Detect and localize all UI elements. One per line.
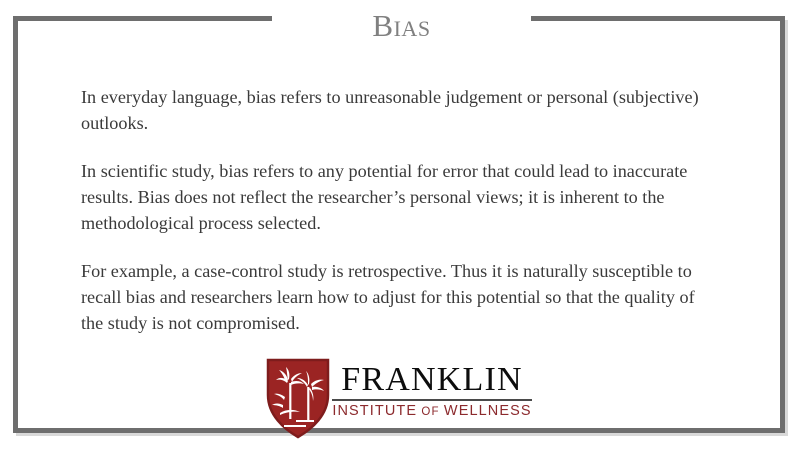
logo-franklin-text: FRANKLIN <box>330 363 534 397</box>
slide-body: In everyday language, bias refers to unr… <box>81 84 721 336</box>
slide-canvas: Bias In everyday language, bias refers t… <box>0 0 800 450</box>
logo-wordmark: FRANKLIN INSTITUTE OF WELLNESS <box>330 363 534 420</box>
frame-border-top-right <box>531 16 785 21</box>
franklin-institute-logo: FRANKLIN INSTITUTE OF WELLNESS <box>266 355 534 445</box>
frame-border-top-left <box>13 16 272 21</box>
logo-tagline-institute: INSTITUTE <box>332 403 417 419</box>
logo-divider-rule <box>332 399 532 401</box>
logo-tagline: INSTITUTE OF WELLNESS <box>330 403 534 420</box>
frame-border-left <box>13 16 18 433</box>
logo-tagline-wellness: WELLNESS <box>444 403 532 419</box>
slide-title: Bias <box>272 8 531 44</box>
body-paragraph-3: For example, a case-control study is ret… <box>81 258 721 336</box>
body-paragraph-1: In everyday language, bias refers to unr… <box>81 84 721 136</box>
logo-tagline-of: OF <box>417 406 444 418</box>
frame-shadow-right <box>785 20 788 436</box>
body-paragraph-2: In scientific study, bias refers to any … <box>81 158 721 236</box>
palmetto-shield-icon <box>266 357 330 439</box>
